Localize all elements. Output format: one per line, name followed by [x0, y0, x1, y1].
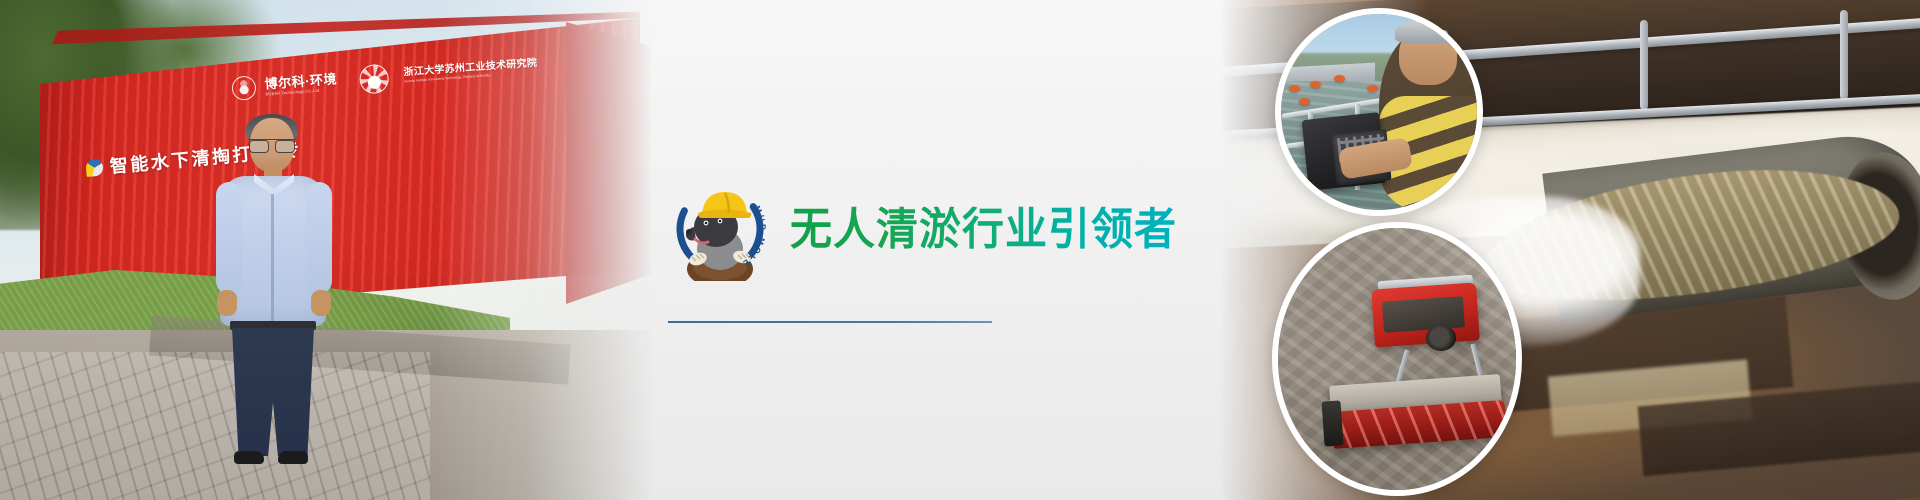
handrail-post	[1840, 10, 1848, 100]
person-left-hand	[217, 290, 237, 316]
circle1-buoy	[1334, 75, 1345, 82]
operator-with-remote-control-photo	[1275, 8, 1483, 216]
headline-divider	[668, 321, 992, 323]
person-left-arm	[216, 182, 242, 294]
person-trousers	[232, 328, 314, 456]
mole-with-hardhat-icon: MUD MOLE	[668, 177, 772, 281]
person-right-shoe	[278, 451, 308, 464]
circle1-buoy	[1289, 85, 1300, 92]
hero-banner: 博尔科·环境 BOEAR Technology Co.,Ltd. 浙江大学苏州工…	[0, 0, 1920, 500]
logo-headline-row: MUD MOLE 无人清淤行业引领者	[668, 177, 1177, 281]
circle1-buoy	[1367, 85, 1378, 92]
page-headline: 无人清淤行业引领者	[790, 207, 1177, 252]
person-glasses-icon	[249, 139, 295, 151]
circle2-mud-texture	[1278, 228, 1516, 490]
person-right-arm	[306, 182, 332, 294]
circle1-buoy	[1299, 98, 1310, 105]
circle2-auger-end-cap	[1322, 400, 1344, 446]
person-photo-subject	[214, 118, 334, 463]
handrail-post	[1640, 20, 1648, 110]
center-content: MUD MOLE 无人清淤行业引领者	[660, 0, 1080, 500]
container-end-panel	[566, 16, 652, 316]
person-right-hand	[311, 290, 331, 316]
slogan-mark-icon	[85, 158, 103, 176]
boear-brand-text: 博尔科·环境 BOEAR Technology Co.,Ltd.	[264, 72, 338, 96]
boear-logo-icon	[231, 75, 257, 101]
circle2-robot-interior	[1382, 296, 1465, 333]
person-left-shoe	[234, 451, 264, 464]
person-shirt-placket	[271, 194, 274, 322]
zju-logo-icon	[359, 63, 390, 94]
left-photo: 博尔科·环境 BOEAR Technology Co.,Ltd. 浙江大学苏州工…	[0, 0, 660, 500]
circle1-operator-cap	[1395, 20, 1460, 44]
mud-mole-logo: MUD MOLE	[668, 177, 772, 281]
dredging-robot-photo	[1272, 222, 1522, 496]
circle1-buoy	[1310, 81, 1321, 88]
